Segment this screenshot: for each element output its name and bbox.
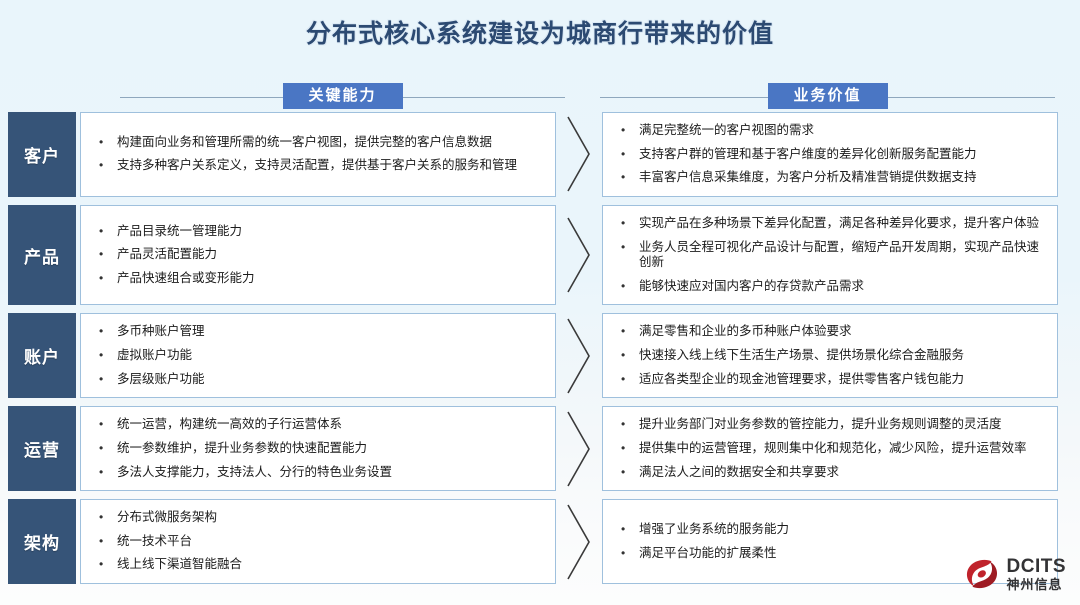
bullet-text: 统一技术平台: [117, 534, 545, 550]
bullet-dot-icon: •: [91, 324, 117, 339]
chevron-right-icon: [556, 313, 602, 398]
bullet-dot-icon: •: [91, 510, 117, 525]
bullet-dot-icon: •: [613, 147, 639, 162]
row-label-2[interactable]: 账户: [8, 313, 76, 398]
bullet-item: •统一技术平台: [91, 530, 545, 554]
bullet-item: •统一参数维护，提升业务参数的快速配置能力: [91, 437, 545, 461]
bullet-dot-icon: •: [613, 546, 639, 561]
header-rule-right: [888, 97, 1056, 98]
content-row: 账户•多币种账户管理•虚拟账户功能•多层级账户功能•满足零售和企业的多币种账户体…: [0, 313, 1080, 398]
capabilities-panel-4: •分布式微服务架构•统一技术平台•线上线下渠道智能融合: [80, 499, 556, 584]
bullet-item: •实现产品在多种场景下差异化配置，满足各种差异化要求，提升客户体验: [613, 212, 1047, 236]
bullet-dot-icon: •: [91, 348, 117, 363]
bullet-item: •满足法人之间的数据安全和共享要求: [613, 461, 1047, 485]
bullet-text: 满足法人之间的数据安全和共享要求: [639, 465, 1047, 481]
bullet-item: •线上线下渠道智能融合: [91, 553, 545, 577]
row-label-3[interactable]: 运营: [8, 406, 76, 491]
bullet-dot-icon: •: [91, 557, 117, 572]
bullet-text: 统一参数维护，提升业务参数的快速配置能力: [117, 441, 545, 457]
column-header-business-value: 业务价值: [600, 82, 1055, 112]
bullet-text: 产品快速组合或变形能力: [117, 271, 545, 287]
business-value-panel-1: •实现产品在多种场景下差异化配置，满足各种差异化要求，提升客户体验•业务人员全程…: [602, 205, 1058, 306]
bullet-dot-icon: •: [613, 216, 639, 231]
bullet-item: •多层级账户功能: [91, 368, 545, 392]
bullet-text: 快速接入线上线下生活生产场景、提供场景化综合金融服务: [639, 348, 1047, 364]
logo-name-en: DCITS: [1007, 557, 1067, 576]
badge-business-value[interactable]: 业务价值: [768, 83, 888, 109]
row-label-4[interactable]: 架构: [8, 499, 76, 584]
bullet-text: 实现产品在多种场景下差异化配置，满足各种差异化要求，提升客户体验: [639, 216, 1047, 232]
bullet-item: •能够快速应对国内客户的存贷款产品需求: [613, 275, 1047, 299]
bullet-item: •分布式微服务架构: [91, 506, 545, 530]
bullet-text: 支持多种客户关系定义，支持灵活配置，提供基于客户关系的服务和管理: [117, 158, 545, 174]
bullet-dot-icon: •: [91, 372, 117, 387]
business-value-panel-0: •满足完整统一的客户视图的需求•支持客户群的管理和基于客户维度的差异化创新服务配…: [602, 112, 1058, 197]
row-label-1[interactable]: 产品: [8, 205, 76, 306]
bullet-dot-icon: •: [613, 348, 639, 363]
bullet-item: •产品目录统一管理能力: [91, 220, 545, 244]
bullet-item: •多币种账户管理: [91, 320, 545, 344]
bullet-text: 统一运营，构建统一高效的子行运营体系: [117, 417, 545, 433]
bullet-text: 满足零售和企业的多币种账户体验要求: [639, 324, 1047, 340]
bullet-dot-icon: •: [91, 224, 117, 239]
bullet-text: 虚拟账户功能: [117, 348, 545, 364]
bullet-text: 提供集中的运营管理，规则集中化和规范化，减少风险，提升运营效率: [639, 441, 1047, 457]
content-row: 产品•产品目录统一管理能力•产品灵活配置能力•产品快速组合或变形能力•实现产品在…: [0, 205, 1080, 306]
bullet-dot-icon: •: [613, 465, 639, 480]
content-row: 客户•构建面向业务和管理所需的统一客户视图，提供完整的客户信息数据•支持多种客户…: [0, 112, 1080, 197]
column-header-capabilities: 关键能力: [120, 82, 565, 112]
bullet-text: 多层级账户功能: [117, 372, 545, 388]
chevron-right-icon: [556, 205, 602, 306]
header-rule-left: [600, 97, 768, 98]
bullet-text: 适应各类型企业的现金池管理要求，提供零售客户钱包能力: [639, 372, 1047, 388]
bullet-item: •统一运营，构建统一高效的子行运营体系: [91, 413, 545, 437]
bullet-dot-icon: •: [91, 271, 117, 286]
bullet-text: 构建面向业务和管理所需的统一客户视图，提供完整的客户信息数据: [117, 135, 545, 151]
bullet-dot-icon: •: [613, 279, 639, 294]
bullet-item: •快速接入线上线下生活生产场景、提供场景化综合金融服务: [613, 344, 1047, 368]
bullet-dot-icon: •: [91, 247, 117, 262]
capabilities-panel-2: •多币种账户管理•虚拟账户功能•多层级账户功能: [80, 313, 556, 398]
bullet-text: 产品目录统一管理能力: [117, 224, 545, 240]
bullet-dot-icon: •: [91, 441, 117, 456]
bullet-text: 多法人支撑能力，支持法人、分行的特色业务设置: [117, 465, 545, 481]
bullet-item: •满足完整统一的客户视图的需求: [613, 119, 1047, 143]
bullet-item: •多法人支撑能力，支持法人、分行的特色业务设置: [91, 461, 545, 485]
bullet-text: 提升业务部门对业务参数的管控能力，提升业务规则调整的灵活度: [639, 417, 1047, 433]
bullet-dot-icon: •: [91, 135, 117, 150]
bullet-dot-icon: •: [613, 170, 639, 185]
bullet-item: •支持客户群的管理和基于客户维度的差异化创新服务配置能力: [613, 143, 1047, 167]
bullet-text: 增强了业务系统的服务能力: [639, 522, 1047, 538]
bullet-text: 满足完整统一的客户视图的需求: [639, 123, 1047, 139]
column-headers: 关键能力 业务价值: [0, 82, 1080, 112]
bullet-item: •支持多种客户关系定义，支持灵活配置，提供基于客户关系的服务和管理: [91, 154, 545, 178]
bullet-item: •提供集中的运营管理，规则集中化和规范化，减少风险，提升运营效率: [613, 437, 1047, 461]
logo-text-block: DCITS 神州信息: [1007, 557, 1067, 591]
chevron-right-icon: [556, 499, 602, 584]
page-title: 分布式核心系统建设为城商行带来的价值: [0, 14, 1080, 50]
bullet-text: 线上线下渠道智能融合: [117, 557, 545, 573]
bullet-item: •增强了业务系统的服务能力: [613, 518, 1047, 542]
bullet-dot-icon: •: [91, 534, 117, 549]
bullet-item: •产品快速组合或变形能力: [91, 267, 545, 291]
capabilities-panel-1: •产品目录统一管理能力•产品灵活配置能力•产品快速组合或变形能力: [80, 205, 556, 306]
bullet-text: 丰富客户信息采集维度，为客户分析及精准营销提供数据支持: [639, 170, 1047, 186]
dcits-swirl-icon: [964, 557, 1000, 591]
bullet-text: 支持客户群的管理和基于客户维度的差异化创新服务配置能力: [639, 147, 1047, 163]
bullet-dot-icon: •: [613, 522, 639, 537]
content-rows: 客户•构建面向业务和管理所需的统一客户视图，提供完整的客户信息数据•支持多种客户…: [0, 112, 1080, 592]
bullet-dot-icon: •: [91, 158, 117, 173]
bullet-item: •产品灵活配置能力: [91, 243, 545, 267]
header-rule-left: [120, 97, 283, 98]
bullet-item: •满足零售和企业的多币种账户体验要求: [613, 320, 1047, 344]
business-value-panel-3: •提升业务部门对业务参数的管控能力，提升业务规则调整的灵活度•提供集中的运营管理…: [602, 406, 1058, 491]
bullet-item: •构建面向业务和管理所需的统一客户视图，提供完整的客户信息数据: [91, 131, 545, 155]
bullet-item: •适应各类型企业的现金池管理要求，提供零售客户钱包能力: [613, 368, 1047, 392]
bullet-item: •丰富客户信息采集维度，为客户分析及精准营销提供数据支持: [613, 166, 1047, 190]
logo-name-cn: 神州信息: [1007, 578, 1067, 591]
bullet-dot-icon: •: [613, 324, 639, 339]
bullet-item: •提升业务部门对业务参数的管控能力，提升业务规则调整的灵活度: [613, 413, 1047, 437]
bullet-dot-icon: •: [91, 417, 117, 432]
bullet-text: 能够快速应对国内客户的存贷款产品需求: [639, 279, 1047, 295]
bullet-text: 产品灵活配置能力: [117, 247, 545, 263]
header-rule-right: [403, 97, 566, 98]
bullet-text: 业务人员全程可视化产品设计与配置，缩短产品开发周期，实现产品快速创新: [639, 240, 1047, 271]
row-label-0[interactable]: 客户: [8, 112, 76, 197]
bullet-text: 分布式微服务架构: [117, 510, 545, 526]
bullet-dot-icon: •: [91, 465, 117, 480]
bullet-dot-icon: •: [613, 123, 639, 138]
content-row: 架构•分布式微服务架构•统一技术平台•线上线下渠道智能融合•增强了业务系统的服务…: [0, 499, 1080, 584]
business-value-panel-2: •满足零售和企业的多币种账户体验要求•快速接入线上线下生活生产场景、提供场景化综…: [602, 313, 1058, 398]
chevron-right-icon: [556, 112, 602, 197]
bullet-item: •虚拟账户功能: [91, 344, 545, 368]
bullet-text: 多币种账户管理: [117, 324, 545, 340]
brand-logo: DCITS 神州信息: [964, 557, 1067, 591]
bullet-dot-icon: •: [613, 372, 639, 387]
capabilities-panel-3: •统一运营，构建统一高效的子行运营体系•统一参数维护，提升业务参数的快速配置能力…: [80, 406, 556, 491]
capabilities-panel-0: •构建面向业务和管理所需的统一客户视图，提供完整的客户信息数据•支持多种客户关系…: [80, 112, 556, 197]
chevron-right-icon: [556, 406, 602, 491]
content-row: 运营•统一运营，构建统一高效的子行运营体系•统一参数维护，提升业务参数的快速配置…: [0, 406, 1080, 491]
bullet-dot-icon: •: [613, 417, 639, 432]
bullet-dot-icon: •: [613, 240, 639, 255]
bullet-dot-icon: •: [613, 441, 639, 456]
bullet-item: •业务人员全程可视化产品设计与配置，缩短产品开发周期，实现产品快速创新: [613, 236, 1047, 275]
badge-key-capabilities[interactable]: 关键能力: [283, 83, 403, 109]
